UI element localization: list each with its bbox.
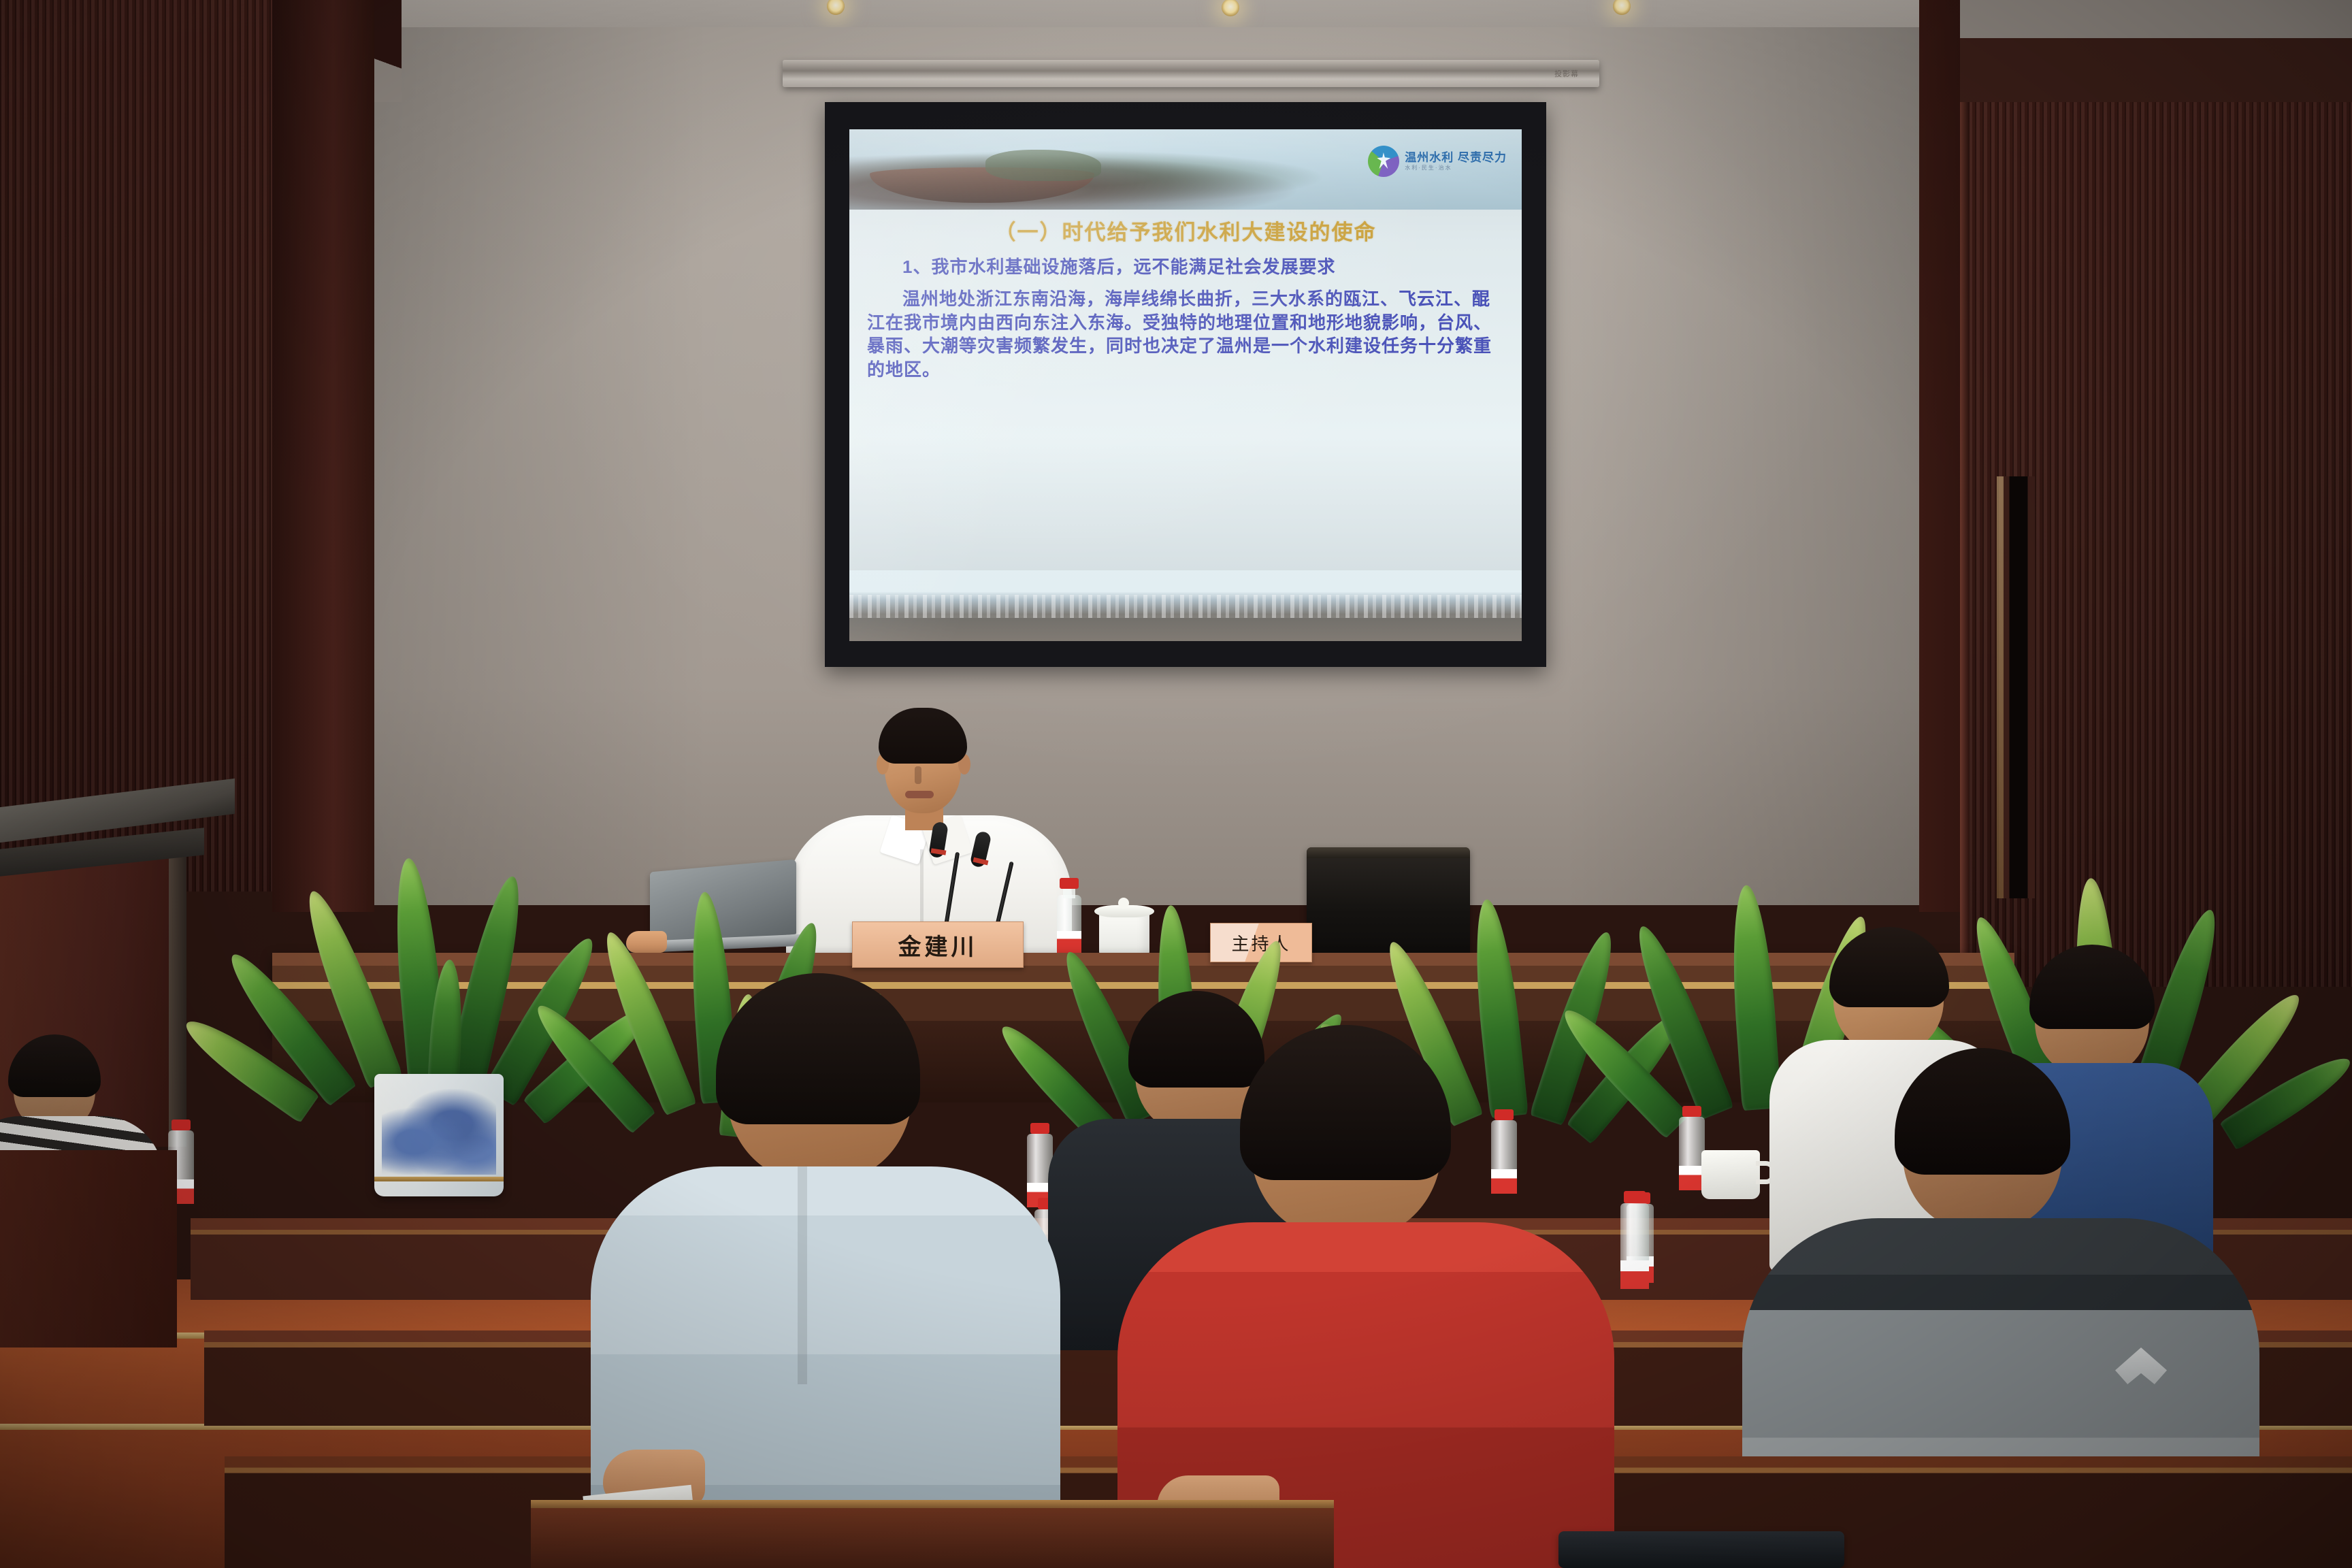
slide-body: （一）时代给予我们水利大建设的使命 1、我市水利基础设施落后，远不能满足社会发展… xyxy=(849,211,1522,566)
housing-brand-label: 投影幕 xyxy=(1554,68,1579,79)
door-opening[interactable] xyxy=(2002,476,2035,898)
podium-edge xyxy=(169,854,186,1147)
presenter-shirt-placket xyxy=(920,849,924,931)
water-bottle-row1-c[interactable] xyxy=(1485,1109,1523,1211)
riverbank-shape xyxy=(985,150,1101,181)
a4-chair-back[interactable] xyxy=(1558,1531,1844,1568)
presenter-nose xyxy=(915,766,921,784)
conference-room-photo: 投影幕 温州水利 尽责尽力 水利·民生·治水 （一）时代给予我们水利大建设的使命… xyxy=(0,0,2352,1568)
logo-sub-text: 水利·民生·治水 xyxy=(1405,165,1507,171)
right-wall-edge xyxy=(1960,102,1970,987)
slide-bottom-photo xyxy=(849,570,1522,641)
door-frame-strip xyxy=(1997,476,2004,898)
slide-paragraph-1: 1、我市水利基础设施落后，远不能满足社会发展要求 xyxy=(867,255,1504,279)
projected-slide: 温州水利 尽责尽力 水利·民生·治水 （一）时代给予我们水利大建设的使命 1、我… xyxy=(849,129,1522,641)
nameplate-speaker-text: 金建川 xyxy=(898,928,978,962)
front-bench-trim xyxy=(531,1500,1334,1508)
porcelain-pot-1 xyxy=(374,1074,504,1196)
projector-screen-housing[interactable]: 投影幕 xyxy=(783,60,1599,87)
front-bench-panel xyxy=(531,1504,1334,1568)
water-bottle-row3-a[interactable] xyxy=(1613,1191,1656,1311)
a2-shirt-seam xyxy=(798,1166,807,1384)
slide-paragraph-2: 温州地处浙江东南沿海，海岸线绵长曲折，三大水系的瓯江、飞云江、醌江在我市境内由西… xyxy=(867,287,1504,382)
right-wall-top-band xyxy=(1960,0,2352,109)
stage-chair-top-rail xyxy=(1307,847,1470,858)
mug-row1[interactable] xyxy=(1701,1150,1760,1199)
nameplate-speaker: 金建川 xyxy=(852,921,1024,968)
water-bottle-cap[interactable] xyxy=(1060,878,1079,889)
slide-top-photo: 温州水利 尽责尽力 水利·民生·治水 xyxy=(849,129,1522,210)
presenter-mouth xyxy=(905,791,934,798)
left-wall-column xyxy=(272,0,374,912)
city-skyline-shape xyxy=(849,595,1522,618)
podium-lower-front xyxy=(0,1150,177,1347)
logo-main-text: 温州水利 尽责尽力 xyxy=(1405,152,1507,163)
slide-title: （一）时代给予我们水利大建设的使命 xyxy=(867,215,1504,246)
water-drop-circle-logo-icon xyxy=(1368,146,1399,177)
slide-logo: 温州水利 尽责尽力 水利·民生·治水 xyxy=(1368,146,1507,177)
